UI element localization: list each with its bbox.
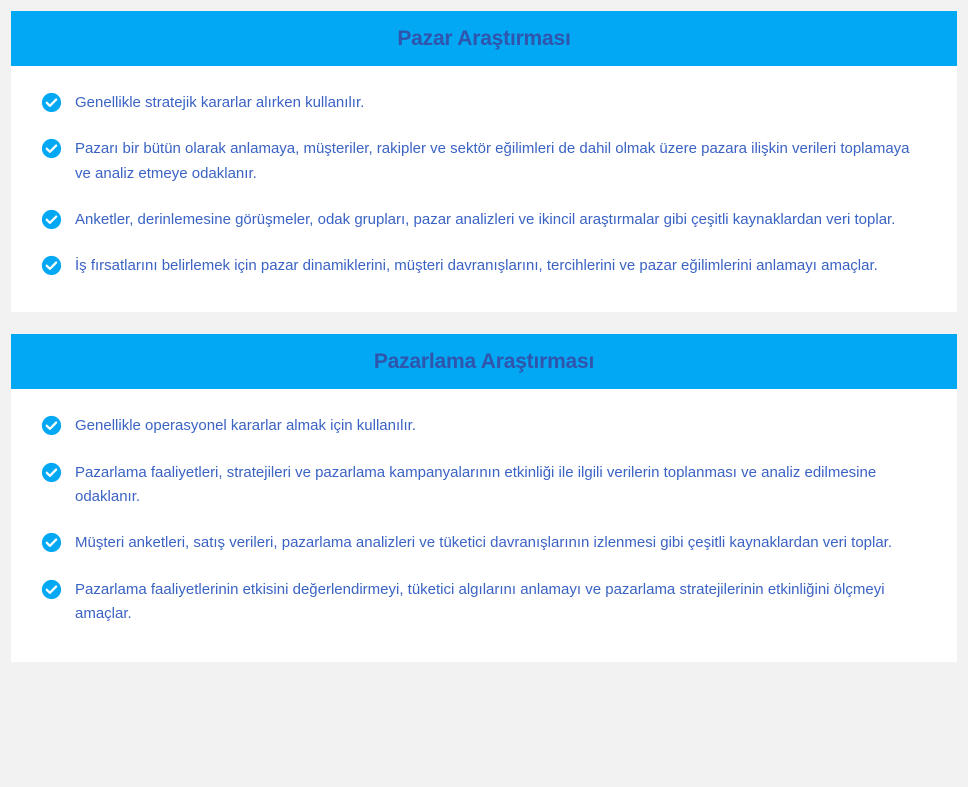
list-item-text: Müşteri anketleri, satış verileri, pazar… [75,531,892,555]
list-item: Pazarlama faaliyetlerinin etkisini değer… [41,578,927,627]
card-body: Genellikle operasyonel kararlar almak iç… [11,389,957,662]
list-item-text: Pazarlama faaliyetleri, stratejileri ve … [75,461,915,510]
check-circle-icon [41,578,62,600]
list-item: Pazarlama faaliyetleri, stratejileri ve … [41,461,927,510]
check-circle-icon [41,91,62,113]
card-pazar-arastirmasi: Pazar Araştırması Genellikle stratejik k… [11,11,957,312]
bullet-list: Genellikle stratejik kararlar alırken ku… [41,91,927,278]
list-item-text: İş fırsatlarını belirlemek için pazar di… [75,254,878,278]
card-header: Pazar Araştırması [11,11,957,66]
check-circle-icon [41,531,62,553]
card-title: Pazarlama Araştırması [374,349,594,374]
comparison-page: Pazar Araştırması Genellikle stratejik k… [0,0,968,787]
bullet-list: Genellikle operasyonel kararlar almak iç… [41,414,927,626]
card-title: Pazar Araştırması [397,26,570,51]
list-item-text: Anketler, derinlemesine görüşmeler, odak… [75,208,895,232]
list-item-text: Genellikle stratejik kararlar alırken ku… [75,91,364,115]
check-circle-icon [41,208,62,230]
list-item-text: Pazarı bir bütün olarak anlamaya, müşter… [75,137,915,186]
list-item: İş fırsatlarını belirlemek için pazar di… [41,254,927,278]
card-pazarlama-arastirmasi: Pazarlama Araştırması Genellikle operasy… [11,334,957,662]
card-header: Pazarlama Araştırması [11,334,957,389]
list-item-text: Genellikle operasyonel kararlar almak iç… [75,414,416,438]
list-item: Müşteri anketleri, satış verileri, pazar… [41,531,927,555]
check-circle-icon [41,461,62,483]
check-circle-icon [41,414,62,436]
list-item: Anketler, derinlemesine görüşmeler, odak… [41,208,927,232]
check-circle-icon [41,254,62,276]
list-item-text: Pazarlama faaliyetlerinin etkisini değer… [75,578,915,627]
card-body: Genellikle stratejik kararlar alırken ku… [11,66,957,312]
list-item: Genellikle operasyonel kararlar almak iç… [41,414,927,438]
list-item: Pazarı bir bütün olarak anlamaya, müşter… [41,137,927,186]
list-item: Genellikle stratejik kararlar alırken ku… [41,91,927,115]
check-circle-icon [41,137,62,159]
